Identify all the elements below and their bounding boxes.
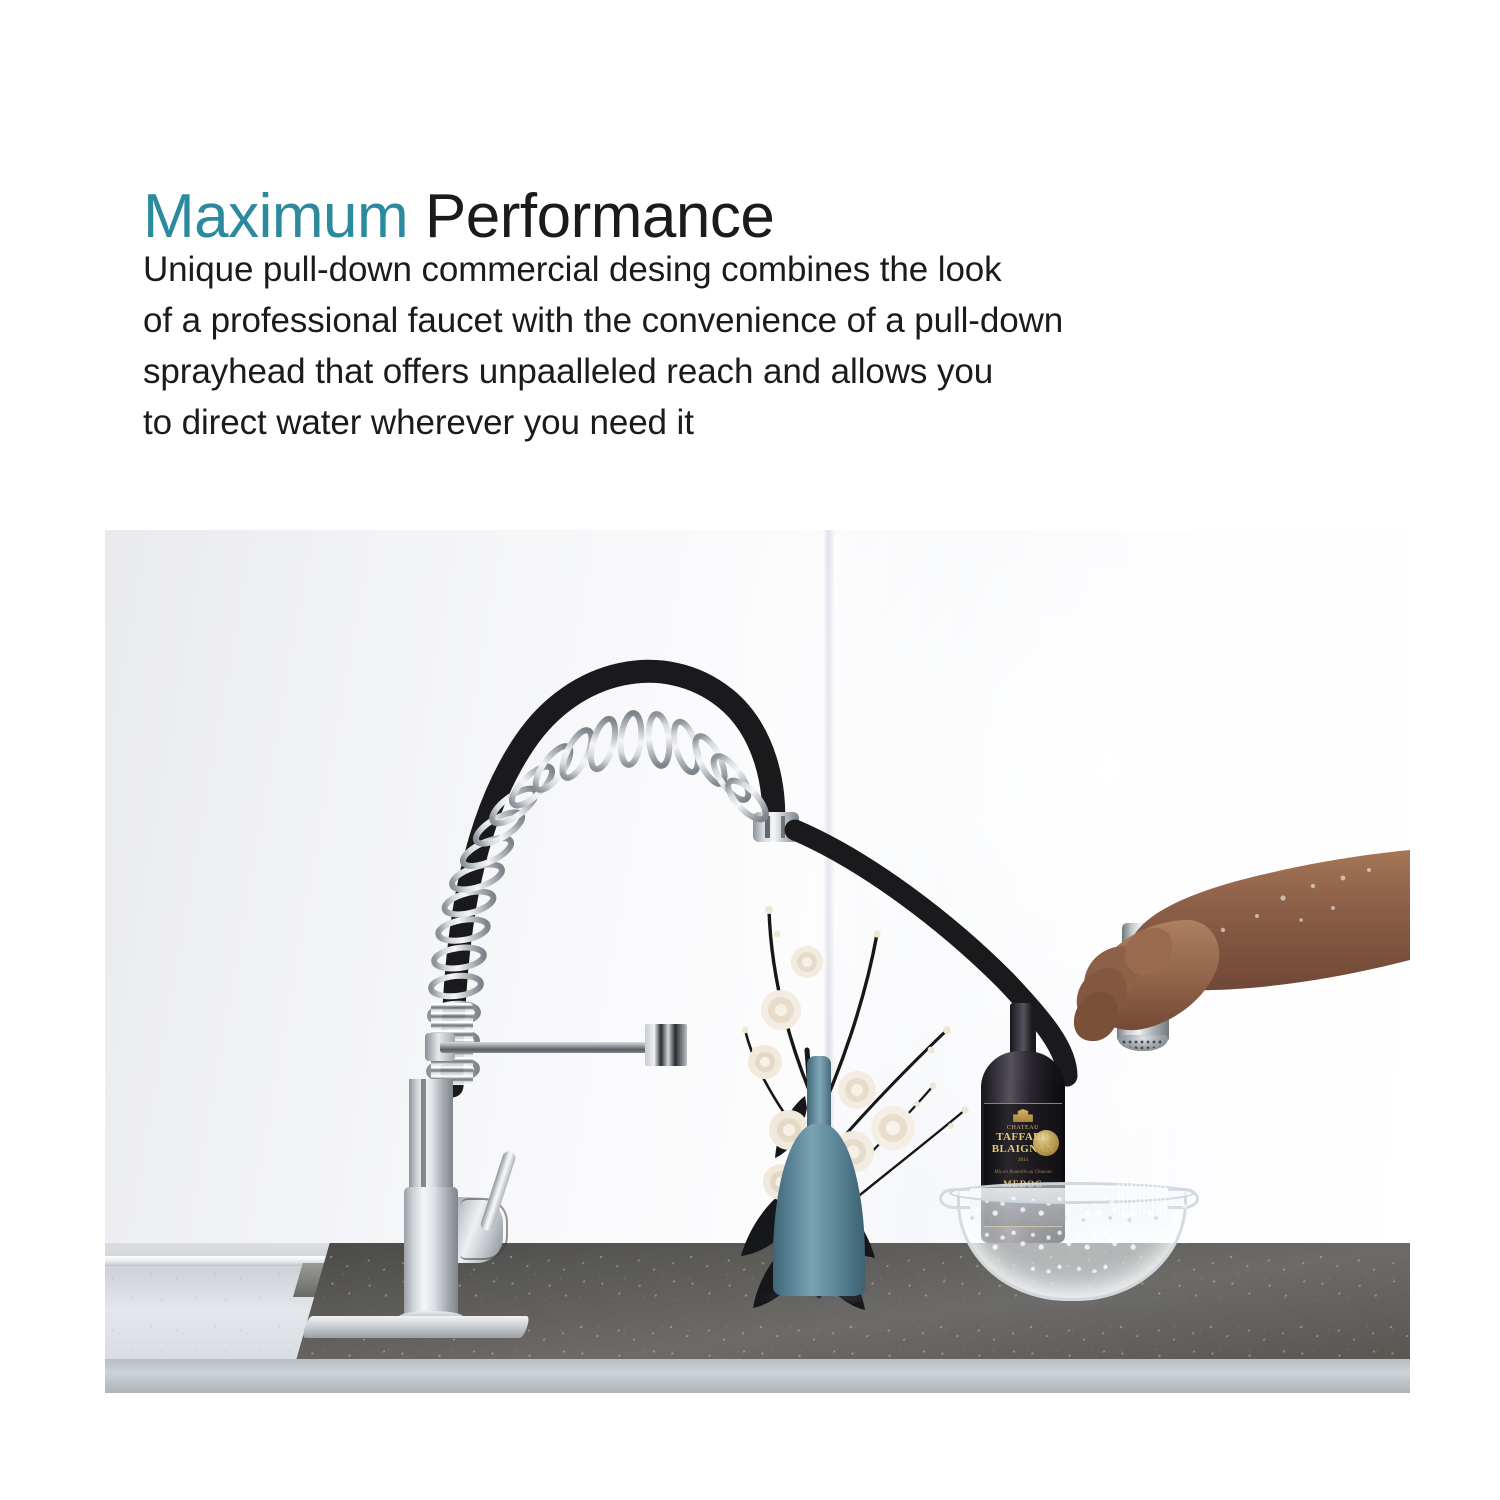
page-title-accent: Maximum [143,182,408,251]
description-line-2: of a professional faucet with the conven… [143,295,1143,346]
page-title: Maximum Performance [143,182,774,252]
hand-and-arm [105,530,1410,1393]
description-line-4: to direct water wherever you need it [143,397,1143,448]
description-text: Unique pull-down commercial desing combi… [143,244,1143,448]
product-feature-page: Maximum Performance Unique pull-down com… [0,0,1500,1500]
product-photo: CHATEAU TAFFARD BLAIGNAN 2014 Mis en Bou… [105,530,1410,1393]
description-line-1: Unique pull-down commercial desing combi… [143,244,1143,295]
page-title-plain: Performance [408,182,774,251]
description-line-3: sprayhead that offers unpaalleled reach … [143,346,1143,397]
